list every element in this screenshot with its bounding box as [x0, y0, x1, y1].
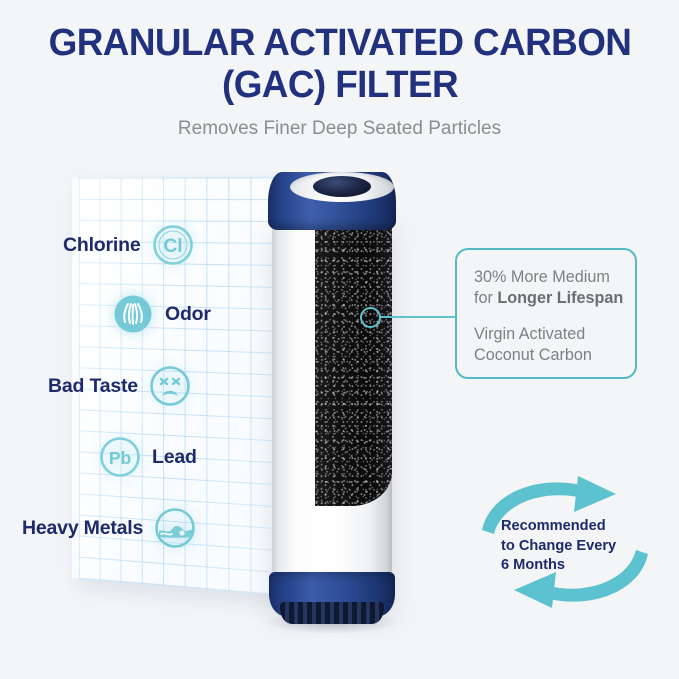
header: GRANULAR ACTIVATED CARBON (GAC) FILTER R… — [0, 0, 679, 140]
bad-taste-face-icon — [147, 363, 193, 409]
list-item: Heavy Metals — [22, 505, 198, 551]
contaminant-label-bad-taste: Bad Taste — [48, 375, 138, 398]
lead-pb-icon: Pb — [97, 434, 143, 480]
contaminant-label-lead: Lead — [152, 446, 197, 469]
callout-line-2-prefix: for — [474, 289, 497, 307]
cycle-line-2: to Change Every — [501, 537, 636, 557]
callout-line-4: Coconut Carbon — [474, 345, 635, 366]
callout-line-1: 30% More Medium — [474, 267, 635, 288]
list-item: Bad Taste — [48, 363, 193, 409]
carbon-callout-box: 30% More Medium for Longer Lifespan Virg… — [455, 248, 637, 379]
cartridge-inlet-hole — [313, 176, 371, 197]
list-item: Chlorine Cl — [63, 222, 196, 268]
page-title: GRANULAR ACTIVATED CARBON (GAC) FILTER — [29, 22, 650, 106]
activated-carbon-cutaway — [315, 214, 392, 506]
svg-text:Pb: Pb — [109, 448, 131, 468]
contaminant-label-odor: Odor — [165, 303, 211, 326]
svg-text:Cl: Cl — [163, 236, 182, 257]
callout-spacer — [474, 309, 635, 324]
carbon-callout-marker — [360, 307, 381, 328]
cycle-text: Recommended to Change Every 6 Months — [501, 517, 636, 576]
list-item: Odor — [110, 291, 211, 337]
contaminant-label-heavy-metals: Heavy Metals — [22, 517, 143, 540]
callout-line-2: for Longer Lifespan — [474, 288, 635, 309]
odor-steam-icon — [110, 291, 156, 337]
contaminant-list: Chlorine Cl Odor Bad T — [0, 178, 300, 588]
carbon-callout-leader-line — [380, 316, 457, 318]
filter-cartridge-image — [258, 166, 406, 644]
list-item: Pb Lead — [97, 434, 197, 480]
contaminant-label-chlorine: Chlorine — [63, 234, 141, 257]
replacement-cycle-badge: Recommended to Change Every 6 Months — [470, 472, 660, 612]
callout-line-2-strong: Longer Lifespan — [497, 289, 623, 307]
cartridge-ribbed-foot — [280, 602, 384, 624]
title-line-2: (GAC) FILTER — [29, 64, 650, 106]
page-subtitle: Removes Finer Deep Seated Particles — [0, 118, 679, 140]
chlorine-cl-icon: Cl — [150, 222, 196, 268]
callout-line-3: Virgin Activated — [474, 324, 635, 345]
heavy-metals-icon — [152, 505, 198, 551]
cycle-line-1: Recommended — [501, 517, 636, 537]
cartridge-top-cap — [268, 172, 396, 230]
title-line-1: GRANULAR ACTIVATED CARBON — [29, 22, 650, 64]
cycle-line-3: 6 Months — [501, 556, 636, 576]
